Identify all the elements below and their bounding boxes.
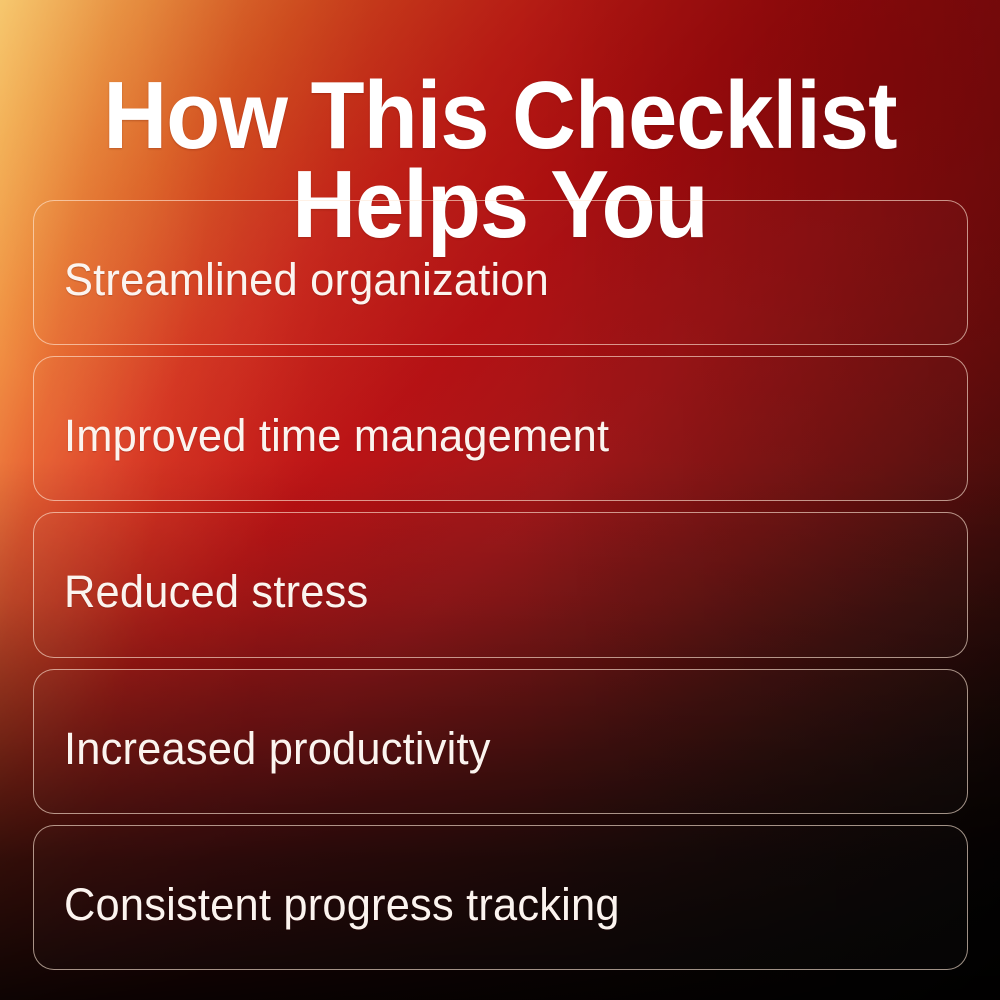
benefit-card[interactable]: Streamlined organization bbox=[33, 200, 968, 345]
benefit-card[interactable]: Improved time management bbox=[33, 356, 968, 501]
benefit-label: Streamlined organization bbox=[64, 256, 549, 303]
benefit-label: Improved time management bbox=[64, 412, 609, 459]
benefit-label: Consistent progress tracking bbox=[64, 881, 620, 928]
benefit-card[interactable]: Consistent progress tracking bbox=[33, 825, 968, 970]
benefit-label: Reduced stress bbox=[64, 568, 368, 615]
slide-canvas: How This Checklist Helps You Streamlined… bbox=[0, 0, 1000, 1000]
benefit-card[interactable]: Reduced stress bbox=[33, 512, 968, 657]
benefit-card[interactable]: Increased productivity bbox=[33, 669, 968, 814]
benefit-label: Increased productivity bbox=[64, 725, 491, 772]
benefits-list: Streamlined organization Improved time m… bbox=[33, 200, 968, 970]
